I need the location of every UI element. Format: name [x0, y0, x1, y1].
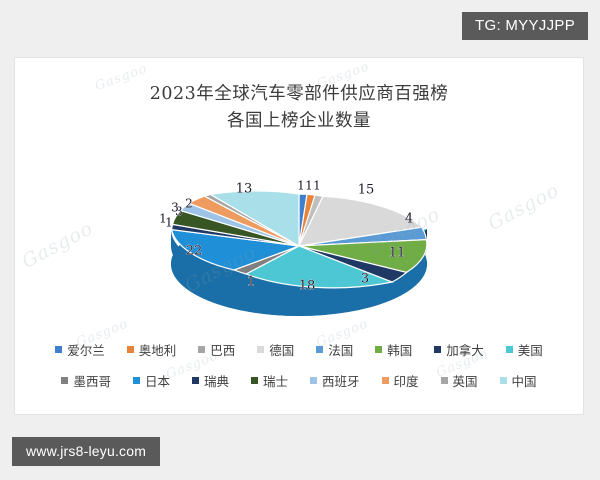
- legend-item[interactable]: 巴西: [187, 340, 246, 359]
- legend-item-label: 瑞典: [204, 371, 229, 390]
- legend-row-1: 爱尔兰奥地利巴西德国法国韩国加拿大美国: [44, 340, 554, 359]
- legend-item[interactable]: 英国: [430, 371, 489, 390]
- watermark-plot-left: Gasgoo: [18, 217, 97, 273]
- pie-label-usa: 18: [299, 279, 316, 294]
- tag-badge: TG: MYYJJPP: [462, 12, 588, 40]
- legend-item-label: 加拿大: [446, 340, 484, 359]
- legend-swatch-icon: [133, 377, 140, 384]
- legend-item-label: 英国: [453, 371, 478, 390]
- legend-item-label: 爱尔兰: [67, 340, 105, 359]
- chart-card: 2023年全球汽车零部件供应商百强榜 各国上榜企业数量 Gasgoo Gasgo…: [14, 57, 584, 415]
- pie-label-austria: 1: [305, 179, 313, 193]
- legend-item[interactable]: 日本: [122, 371, 181, 390]
- pie-label-spain: 2: [185, 197, 193, 211]
- legend-item-label: 日本: [145, 371, 170, 390]
- pie-chart: 1 1 1 15 4 11 3 18 1 22 1 3 2 3 1 13: [134, 146, 464, 331]
- pie-label-india: 3: [171, 201, 179, 215]
- legend-item-label: 巴西: [210, 340, 235, 359]
- watermark-brand-text: Gasgoo: [18, 217, 97, 273]
- legend-swatch-icon: [375, 346, 382, 353]
- legend-row-2: 墨西哥日本瑞典瑞士西班牙印度英国中国: [50, 371, 547, 390]
- legend-item[interactable]: 德国: [246, 340, 305, 359]
- legend-swatch-icon: [251, 377, 258, 384]
- legend-item-label: 西班牙: [322, 371, 360, 390]
- legend-swatch-icon: [61, 377, 68, 384]
- legend-swatch-icon: [316, 346, 323, 353]
- legend-swatch-icon: [506, 346, 513, 353]
- legend-item-label: 印度: [394, 371, 419, 390]
- pie-label-brazil: 1: [313, 179, 321, 193]
- legend-swatch-icon: [310, 377, 317, 384]
- legend-item-label: 中国: [512, 371, 537, 390]
- pie-chart-plot: 1 1 1 15 4 11 3 18 1 22 1 3 2 3 1 13: [15, 146, 583, 331]
- legend-item[interactable]: 加拿大: [423, 340, 495, 359]
- legend-item[interactable]: 韩国: [364, 340, 423, 359]
- legend-item-label: 韩国: [387, 340, 412, 359]
- legend-item[interactable]: 瑞典: [181, 371, 240, 390]
- legend-item-label: 法国: [328, 340, 353, 359]
- watermark-plot-right: Gasgoo: [484, 179, 563, 235]
- legend-item[interactable]: 爱尔兰: [44, 340, 116, 359]
- watermark-brand-text: Gasgoo: [93, 61, 150, 94]
- legend-item-label: 德国: [269, 340, 294, 359]
- legend-swatch-icon: [434, 346, 441, 353]
- pie-label-ireland: 1: [297, 179, 305, 193]
- legend-swatch-icon: [257, 346, 264, 353]
- legend-item[interactable]: 法国: [305, 340, 364, 359]
- legend-swatch-icon: [198, 346, 205, 353]
- legend-item-label: 墨西哥: [73, 371, 111, 390]
- pie-label-korea: 11: [389, 246, 406, 261]
- legend-item[interactable]: 中国: [489, 371, 548, 390]
- pie-label-france: 4: [405, 212, 413, 227]
- pie-label-uk: 1: [159, 212, 167, 226]
- legend-item[interactable]: 美国: [495, 340, 554, 359]
- chart-title-line1: 2023年全球汽车零部件供应商百强榜: [150, 84, 449, 104]
- legend-item-label: 奥地利: [139, 340, 177, 359]
- legend-swatch-icon: [500, 377, 507, 384]
- legend-swatch-icon: [55, 346, 62, 353]
- pie-svg: 1 1 1 15 4 11 3 18 1 22 1 3 2 3 1 13: [134, 146, 464, 331]
- footer-url-badge: www.jrs8-leyu.com: [12, 437, 160, 466]
- pie-label-germany: 15: [358, 183, 375, 198]
- legend-item-label: 美国: [518, 340, 543, 359]
- pie-label-mexico: 1: [247, 275, 255, 290]
- pie-label-japan: 22: [186, 244, 203, 259]
- pie-label-china: 13: [236, 182, 253, 197]
- legend-item[interactable]: 印度: [371, 371, 430, 390]
- watermark-brand-text: Gasgoo: [315, 59, 372, 92]
- pie-label-canada: 3: [361, 272, 369, 287]
- legend-item[interactable]: 奥地利: [116, 340, 188, 359]
- legend-swatch-icon: [382, 377, 389, 384]
- chart-legend: 爱尔兰奥地利巴西德国法国韩国加拿大美国 墨西哥日本瑞典瑞士西班牙印度英国中国: [15, 340, 583, 390]
- legend-swatch-icon: [441, 377, 448, 384]
- chart-title: 2023年全球汽车零部件供应商百强榜 各国上榜企业数量: [15, 81, 583, 135]
- chart-title-line2: 各国上榜企业数量: [15, 108, 583, 135]
- legend-item[interactable]: 瑞士: [240, 371, 299, 390]
- legend-item[interactable]: 西班牙: [299, 371, 371, 390]
- legend-swatch-icon: [127, 346, 134, 353]
- watermark-brand-text: Gasgoo: [484, 179, 563, 235]
- legend-swatch-icon: [192, 377, 199, 384]
- legend-item-label: 瑞士: [263, 371, 288, 390]
- legend-item[interactable]: 墨西哥: [50, 371, 122, 390]
